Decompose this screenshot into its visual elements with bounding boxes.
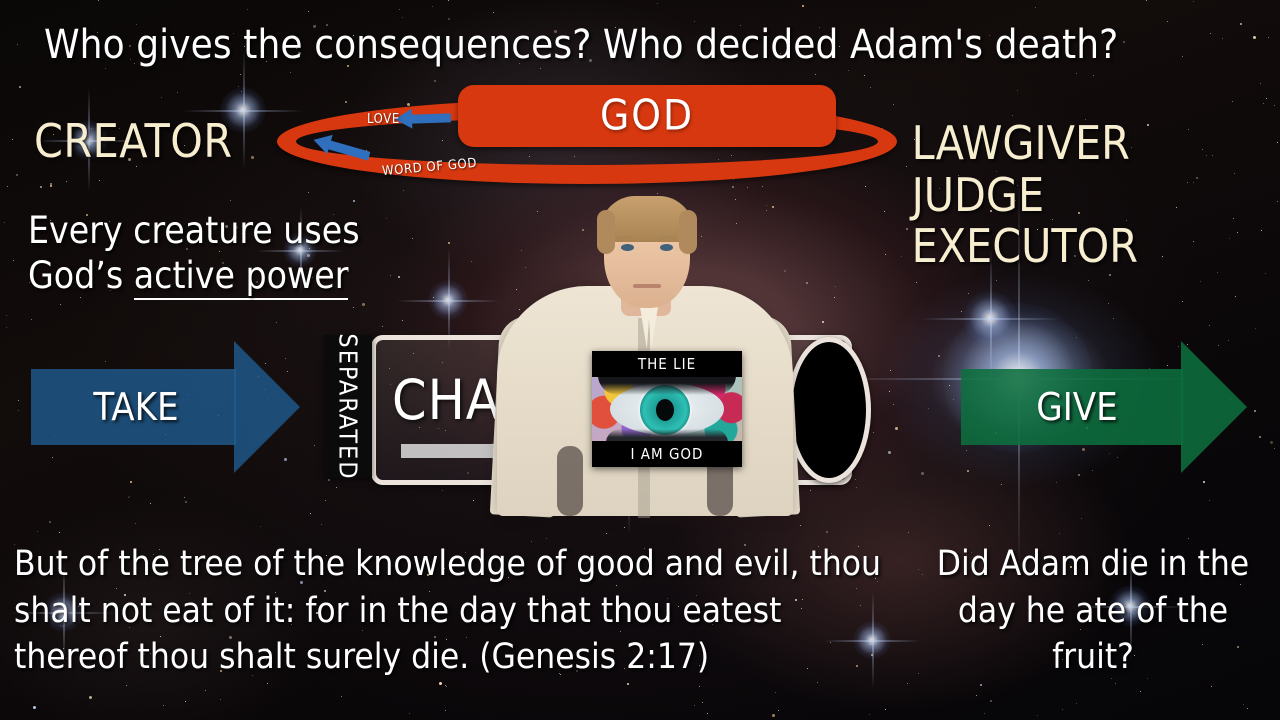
mosaic-eye-image [592, 377, 742, 441]
statement-underlined: active power [134, 254, 349, 300]
presenter-shadow-left [557, 446, 583, 516]
take-label: TAKE [31, 385, 285, 429]
presenter-hair-side-left [597, 210, 615, 254]
presenter-hair-side-right [679, 210, 697, 254]
eye-card-bottom-caption: I AM GOD [592, 441, 742, 467]
role-list: LAWGIVER JUDGE EXECUTOR [912, 118, 1138, 273]
separated-bar: SEPARATED [324, 335, 372, 478]
eye-pupil [656, 399, 674, 421]
ring-label-love: LOVE [367, 112, 400, 127]
role-creator: CREATOR [34, 118, 233, 164]
give-arrow: GIVE [961, 341, 1237, 473]
give-label: GIVE [961, 385, 1237, 429]
closing-question: Did Adam die in the day he ate of the fr… [918, 541, 1268, 681]
role-judge: JUDGE [912, 170, 1138, 222]
take-arrow: TAKE [31, 341, 285, 473]
channel-end-ellipse [787, 337, 871, 483]
presenter-brow-left [617, 236, 633, 239]
eye-card-top-caption: THE LIE [592, 351, 742, 377]
presenter-brow-right [660, 236, 676, 239]
role-lawgiver: LAWGIVER [912, 118, 1138, 170]
statement-prefix: God’s [28, 254, 134, 297]
presenter-eye-left [621, 244, 634, 251]
god-label: GOD [458, 91, 836, 140]
statement-line-1: Every creature uses [28, 208, 360, 253]
statement-line-2: God’s active power [28, 253, 360, 298]
god-box: GOD [458, 85, 836, 147]
page-title: Who gives the consequences? Who decided … [44, 22, 1118, 68]
scripture-verse: But of the tree of the knowledge of good… [14, 541, 894, 681]
the-lie-eye-card: THE LIE I AM GOD [592, 351, 742, 467]
love-arrow-icon [411, 113, 451, 123]
presenter-mouth [633, 284, 661, 288]
role-executor: EXECUTOR [912, 221, 1138, 273]
slide-canvas: Who gives the consequences? Who decided … [0, 0, 1280, 720]
separated-label: SEPARATED [334, 333, 363, 480]
presenter-eye-right [660, 244, 673, 251]
eye-upper-lash [598, 377, 736, 395]
active-power-statement: Every creature uses God’s active power [28, 208, 360, 298]
eye-lower-lash [606, 429, 728, 441]
